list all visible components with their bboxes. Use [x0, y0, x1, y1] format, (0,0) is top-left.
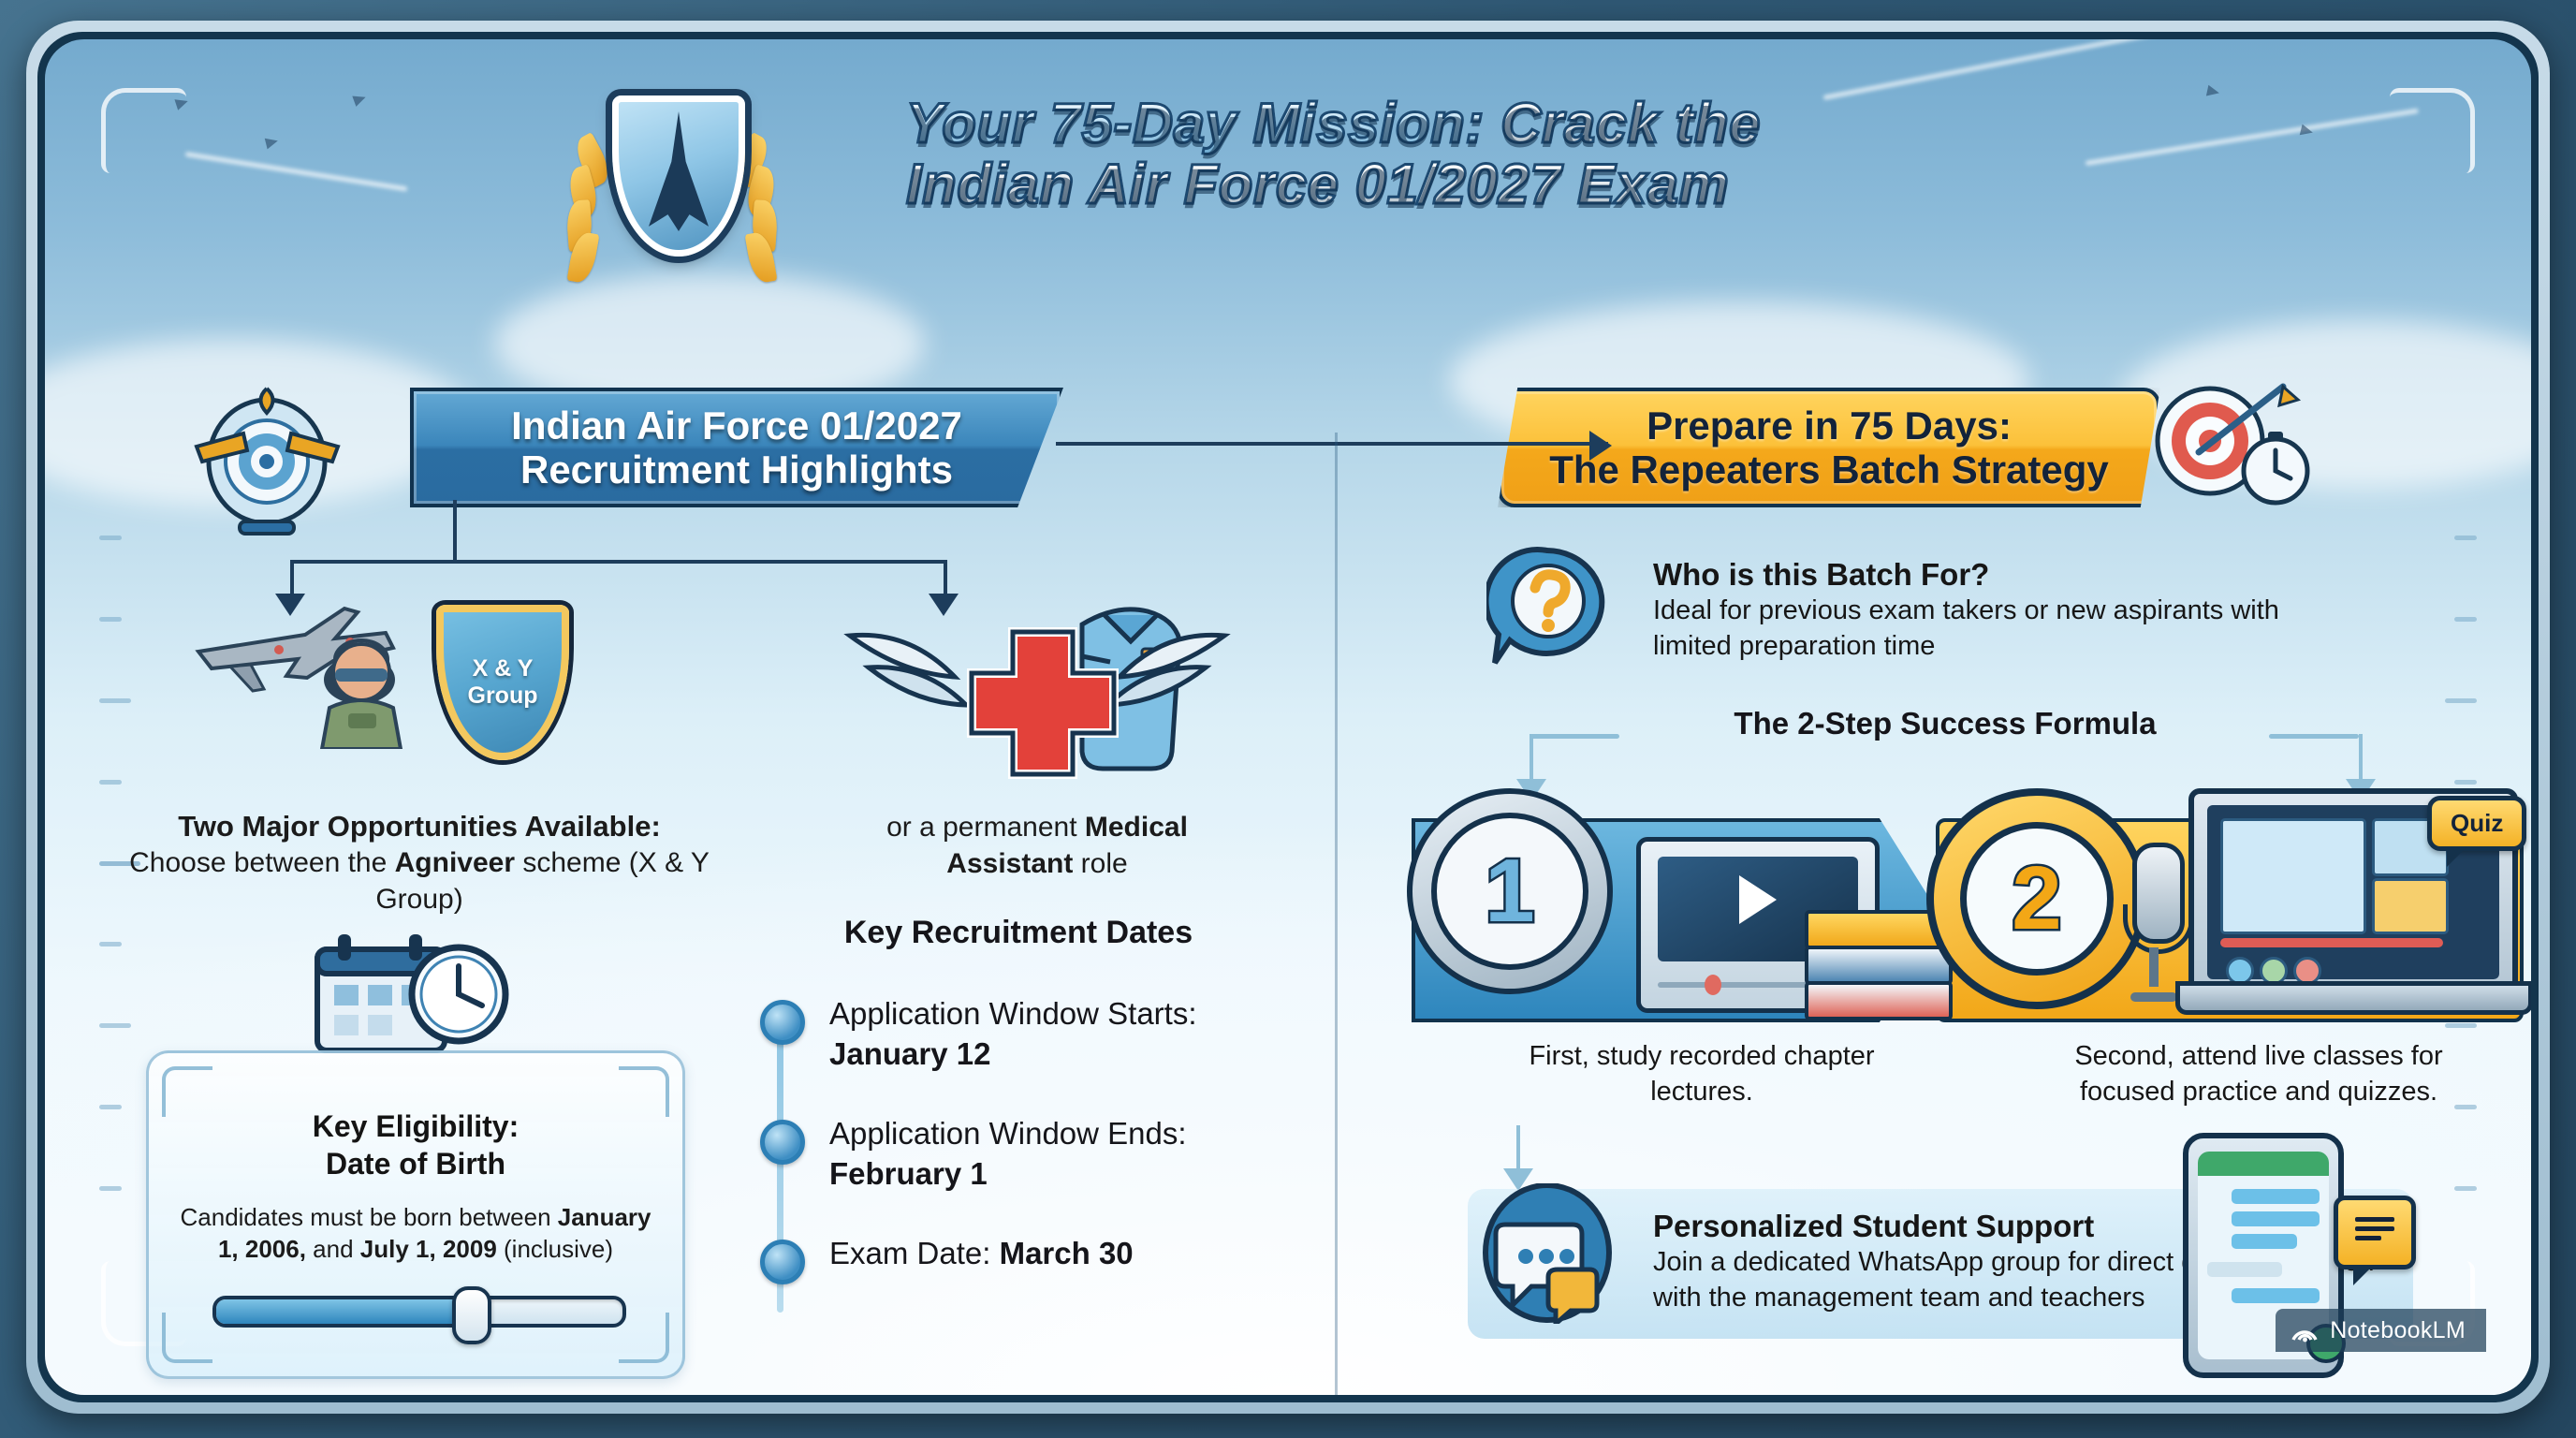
- eligibility-card: Key Eligibility: Date of Birth Candidate…: [146, 1050, 685, 1379]
- step-2-circle-badge: 2: [1926, 788, 2147, 1009]
- step-2-caption: Second, attend live classes for focused …: [2039, 1039, 2479, 1109]
- header: Your 75-Day Mission: Crack the Indian Ai…: [45, 66, 2531, 300]
- notebooklm-brand-label: NotebookLM: [2330, 1317, 2466, 1344]
- medical-body-pre: or a permanent: [886, 812, 1085, 843]
- who-is-this-batch-block: Who is this Batch For? Ideal for previou…: [1653, 556, 2364, 665]
- infographic-root: Your 75-Day Mission: Crack the Indian Ai…: [0, 0, 2576, 1438]
- who-heading: Who is this Batch For?: [1653, 556, 2364, 594]
- timeline-dot-icon: [760, 1000, 805, 1045]
- indian-air-force-crest-icon: [185, 372, 349, 540]
- video-tile: [2372, 878, 2449, 934]
- xy-badge-line1: X & Y: [473, 655, 534, 683]
- fighter-jet-pilot-icon: [193, 580, 464, 749]
- quiz-badge: Quiz: [2427, 796, 2526, 851]
- timeline-item: Exam Date: March 30: [756, 1234, 1318, 1274]
- timeline-dot-icon: [760, 1240, 805, 1284]
- medical-wings-cross-icon: [841, 587, 1234, 788]
- air-force-shield-emblem-icon: [569, 88, 775, 303]
- chat-reply-bubble-icon: [2334, 1196, 2416, 1269]
- slider-fill: [216, 1299, 468, 1324]
- card-corner-bracket: [162, 1313, 212, 1363]
- medical-body-post: role: [1073, 848, 1127, 879]
- formula-hook-right: [2359, 734, 2363, 785]
- formula-rule-right: [2269, 734, 2359, 739]
- eligibility-heading-line2: Date of Birth: [149, 1145, 682, 1182]
- key-dates-title: Key Recruitment Dates: [756, 915, 1281, 951]
- eligibility-body: Candidates must be born between January …: [171, 1201, 660, 1266]
- card-corner-bracket: [619, 1313, 669, 1363]
- column-divider: [1335, 433, 1338, 1395]
- timeline-label: Application Window Starts:: [829, 996, 1197, 1031]
- xy-badge-line2: Group: [468, 682, 538, 711]
- calendar-clock-icon: [312, 931, 513, 1057]
- opportunity-caption: Two Major Opportunities Available: Choos…: [101, 809, 738, 917]
- key-dates-timeline: Application Window Starts: January 12 Ap…: [756, 994, 1318, 1313]
- date-range-slider[interactable]: [212, 1296, 626, 1328]
- formula-hook-left: [1529, 734, 1533, 785]
- timeline-value: March 30: [1000, 1236, 1134, 1270]
- eligibility-heading: Key Eligibility: Date of Birth: [149, 1108, 682, 1182]
- progress-bar: [2220, 938, 2443, 947]
- timeline-item: Application Window Starts: January 12: [756, 994, 1318, 1075]
- formula-rule-left: [1529, 734, 1619, 739]
- timeline-label: Application Window Ends:: [829, 1116, 1187, 1151]
- microphone-icon: [2123, 843, 2185, 1002]
- opportunity-heading: Two Major Opportunities Available:: [101, 809, 738, 844]
- who-body: Ideal for previous exam takers or new as…: [1653, 594, 2364, 664]
- eligibility-body-post: (inclusive): [497, 1235, 613, 1263]
- timeline-item: Application Window Ends: February 1: [756, 1114, 1318, 1195]
- question-speech-bubble-icon: [1486, 545, 1608, 667]
- step-1-gear-badge: 1: [1407, 788, 1613, 994]
- infographic-canvas: Your 75-Day Mission: Crack the Indian Ai…: [45, 39, 2531, 1395]
- video-tile-presenter: [2220, 818, 2366, 934]
- title-rest: Crack the: [1485, 92, 1761, 154]
- connector-line: [453, 500, 457, 562]
- timeline-value: February 1: [829, 1156, 988, 1191]
- connector-line: [290, 560, 945, 564]
- step-2-number: 2: [2012, 847, 2061, 950]
- notebooklm-badge: NotebookLM: [2276, 1309, 2486, 1352]
- slider-knob[interactable]: [452, 1286, 491, 1344]
- left-banner-line2: Recruitment Highlights: [520, 448, 953, 492]
- left-section-banner: Indian Air Force 01/2027 Recruitment Hig…: [410, 388, 1063, 507]
- timeline-value: January 12: [829, 1036, 990, 1071]
- formula-title: The 2-Step Success Formula: [1627, 706, 2263, 741]
- timeline-label: Exam Date:: [829, 1236, 990, 1270]
- connector-arrow-right-icon: [1589, 431, 1612, 461]
- title-line-2: Indian Air Force 01/2027 Exam: [906, 153, 1729, 215]
- eligibility-heading-line1: Key Eligibility:: [149, 1108, 682, 1145]
- left-banner-line1: Indian Air Force 01/2027: [511, 404, 962, 448]
- chat-bubbles-icon: [1477, 1183, 1617, 1324]
- target-stopwatch-icon: [2143, 381, 2316, 512]
- timeline-dot-icon: [760, 1120, 805, 1165]
- eligibility-date-to: July 1, 2009: [360, 1235, 497, 1263]
- eligibility-body-mid: and: [306, 1235, 360, 1263]
- page-title: Your 75-Day Mission: Crack the Indian Ai…: [906, 94, 2123, 215]
- title-highlight: Your 75-Day Mission:: [906, 92, 1485, 154]
- opportunity-body-pre: Choose between the: [129, 847, 395, 878]
- connector-line: [1056, 442, 1608, 446]
- medical-caption: or a permanent Medical Assistant role: [822, 809, 1252, 882]
- right-banner-line2: The Repeaters Batch Strategy: [1549, 448, 2109, 492]
- notebooklm-logo-icon: [2291, 1318, 2319, 1343]
- opportunity-body-bold: Agniveer: [395, 847, 515, 878]
- step-1-caption: First, study recorded chapter lectures.: [1505, 1039, 1898, 1109]
- right-banner-line1: Prepare in 75 Days:: [1647, 404, 2012, 448]
- eligibility-body-pre: Candidates must be born between: [181, 1203, 558, 1231]
- step-1-number: 1: [1485, 840, 1534, 943]
